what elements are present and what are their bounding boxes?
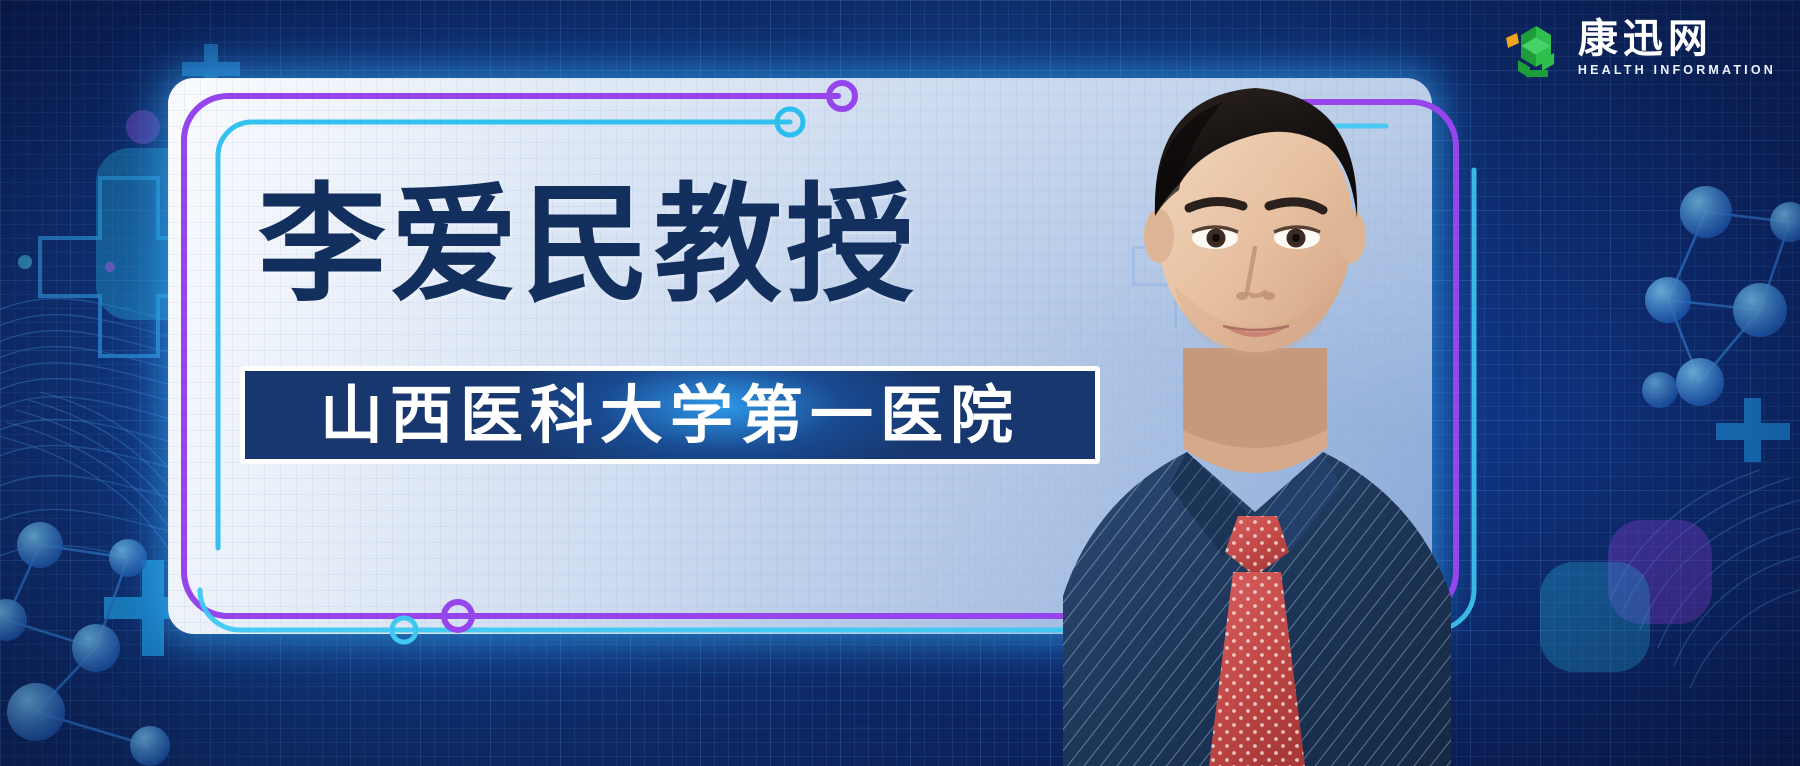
speaker-banner: 李爱民教授 山西医科大学第一医院 — [0, 0, 1800, 766]
brand-logo-text: 康迅网 HEALTH INFORMATION — [1578, 18, 1776, 77]
speaker-name: 李爱民教授 — [258, 182, 918, 310]
brand-name-cn: 康迅网 — [1578, 18, 1776, 60]
affiliation-badge: 山西医科大学第一医院 — [240, 366, 1100, 464]
kangxun-logo-icon — [1504, 22, 1566, 84]
brand-logo[interactable]: 康迅网 HEALTH INFORMATION — [1504, 18, 1776, 84]
brand-name-en: HEALTH INFORMATION — [1578, 64, 1776, 77]
affiliation-text: 山西医科大学第一医院 — [320, 384, 1020, 447]
speaker-portrait — [1055, 0, 1475, 766]
